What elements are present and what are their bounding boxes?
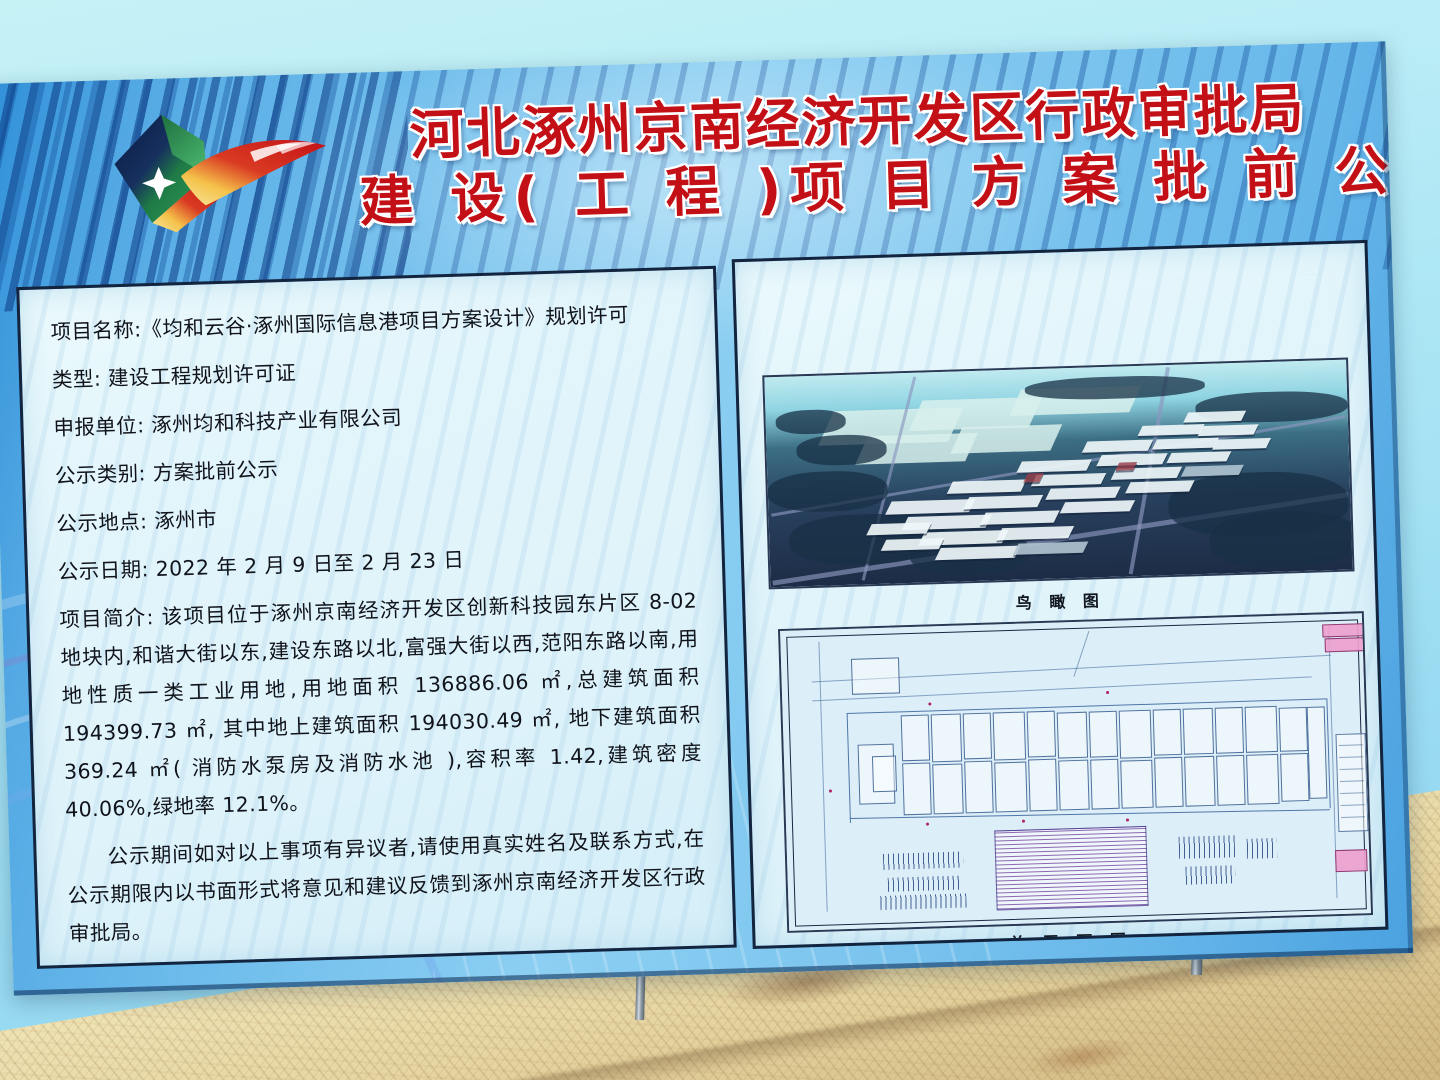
notice-line-project-name: 项目名称:《均和云谷·涿州国际信息港项目方案设计》规划许可 [50,294,689,351]
notice-text-panel: 项目名称:《均和云谷·涿州国际信息港项目方案设计》规划许可 类型: 建设工程规划… [16,266,737,969]
notice-line-category: 公示类别: 方案批前公示 [54,438,693,495]
notice-line-dates: 公示日期: 2022 年 2 月 9 日至 2 月 23 日 [57,534,696,591]
notice-document: 项目名称:《均和云谷·涿州国际信息港项目方案设计》规划许可 类型: 建设工程规划… [19,269,736,969]
notice-project-summary: 项目简介: 该项目位于涿州京南经济开发区创新科技园东片区 8-02 地块内,和谐… [59,582,704,829]
notice-line-location: 公示地点: 涿州市 [56,486,695,543]
signboard-face: 河北涿州京南经济开发区行政审批局 建 设( 工 程 )项 目 方 案 批 前 公… [0,41,1413,995]
aerial-view-image [762,358,1354,590]
notice-line-applicant: 申报单位: 涿州均和科技产业有限公司 [53,390,692,447]
site-plan-image [778,611,1373,933]
development-zone-emblem-icon [53,97,335,245]
figures-panel: 鸟 瞰 图 [732,240,1389,949]
outdoor-scene: 河北涿州京南经济开发区行政审批局 建 设( 工 程 )项 目 方 案 批 前 公… [0,0,1440,1080]
aerial-render [764,360,1352,588]
notice-line-type: 类型: 建设工程规划许可证 [51,342,690,399]
site-plan-drawing [780,613,1371,931]
notice-objection-paragraph: 公示期间如对以上事项有异议者,请使用真实姓名及联系方式,在公示期限内以书面形式将… [66,819,707,952]
public-notice-signboard: 河北涿州京南经济开发区行政审批局 建 设( 工 程 )项 目 方 案 批 前 公… [0,41,1413,995]
